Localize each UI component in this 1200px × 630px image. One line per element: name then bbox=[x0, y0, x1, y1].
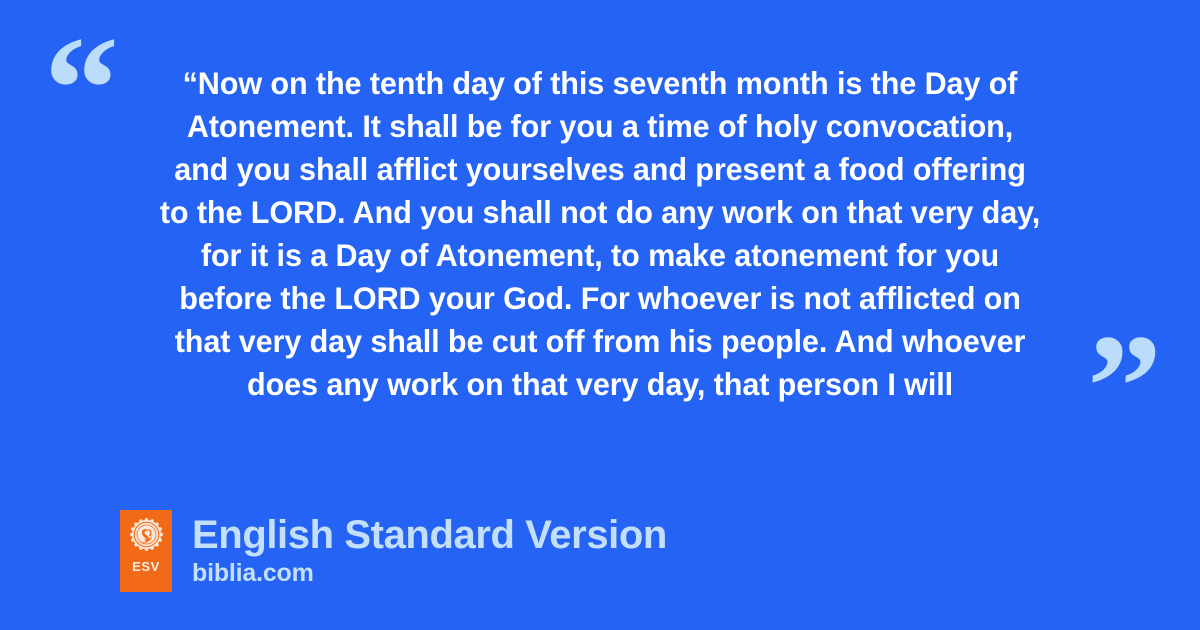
verse-line: that very day shall be cut off from his … bbox=[127, 320, 1074, 363]
verse-line: before the LORD your God. For whoever is… bbox=[127, 277, 1074, 320]
verse-line: and you shall afflict yourselves and pre… bbox=[127, 148, 1074, 191]
attribution-text: English Standard Version biblia.com bbox=[192, 515, 667, 587]
esv-seal-icon bbox=[130, 518, 163, 551]
verse-line: for it is a Day of Atonement, to make at… bbox=[127, 234, 1074, 277]
verse-line: does any work on that very day, that per… bbox=[127, 363, 1074, 406]
esv-abbreviation-label: ESV bbox=[132, 560, 160, 573]
verse-line: “Now on the tenth day of this seventh mo… bbox=[127, 62, 1074, 105]
bible-version-name: English Standard Version bbox=[192, 515, 667, 557]
site-name-label[interactable]: biblia.com bbox=[192, 560, 667, 588]
esv-logo-badge: ESV bbox=[120, 510, 172, 592]
verse-line: Atonement. It shall be for you a time of… bbox=[127, 105, 1074, 148]
attribution-footer: ESV English Standard Version biblia.com bbox=[120, 510, 667, 592]
verse-card: “ ” “Now on the tenth day of this sevent… bbox=[0, 0, 1200, 630]
verse-line: to the LORD. And you shall not do any wo… bbox=[127, 191, 1074, 234]
verse-text: “Now on the tenth day of this seventh mo… bbox=[0, 62, 1200, 422]
